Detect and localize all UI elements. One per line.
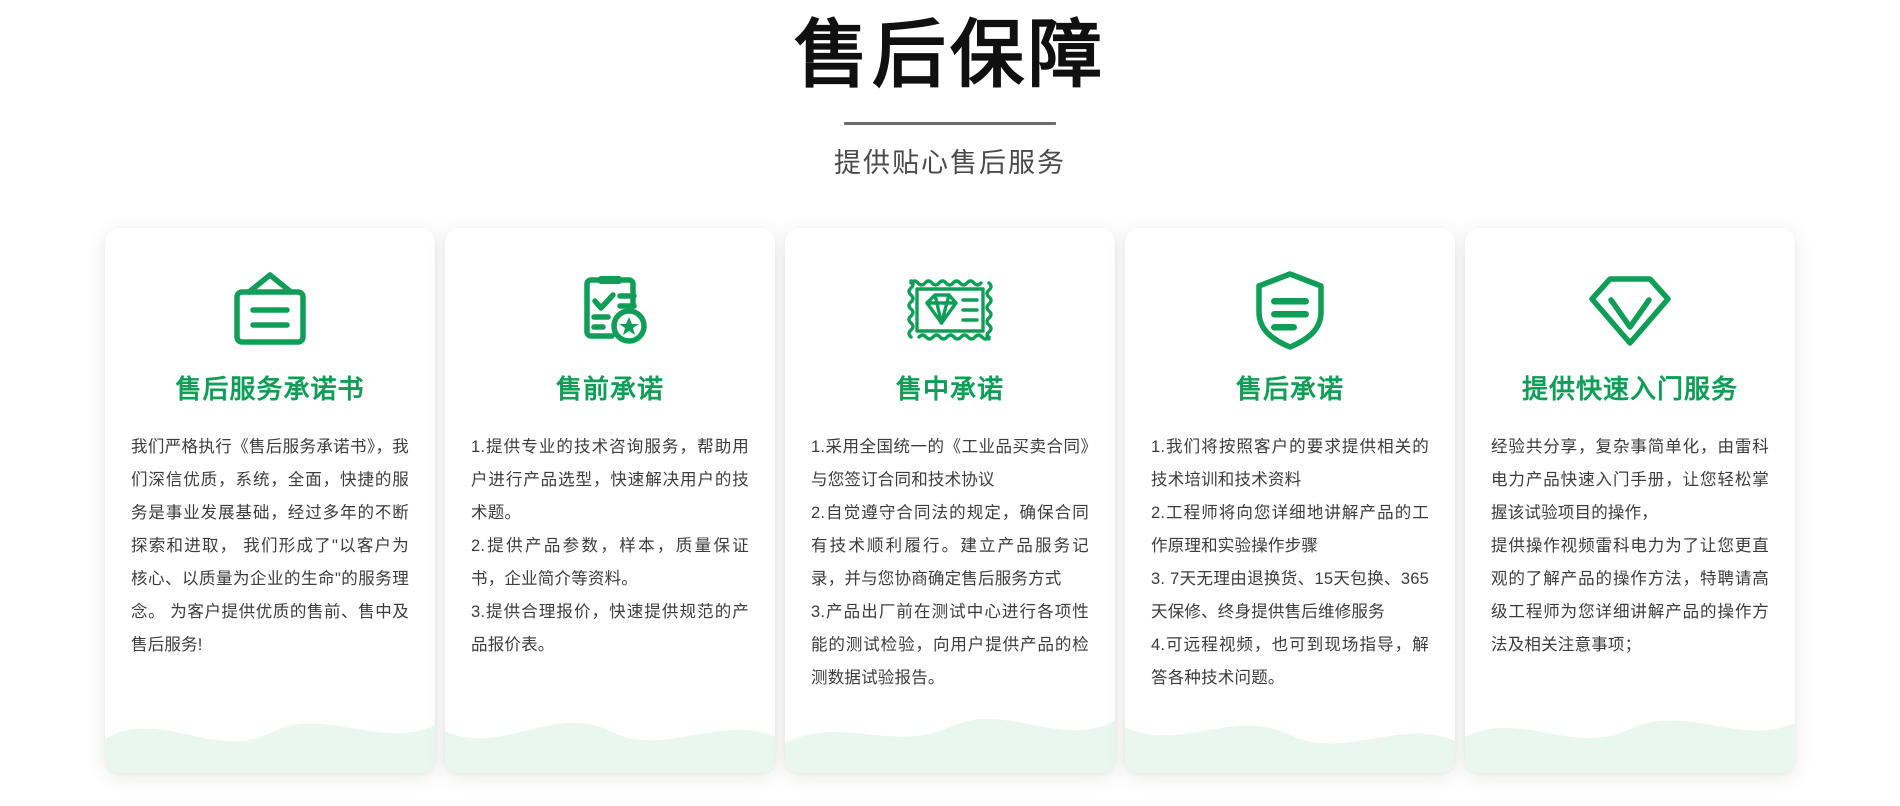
- service-card[interactable]: 售后承诺 1.我们将按照客户的要求提供相关的技术培训和技术资料2.工程师将向您详…: [1125, 228, 1455, 773]
- card-body: 1.采用全国统一的《工业品买卖合同》与您签订合同和技术协议2.自觉遵守合同法的规…: [811, 431, 1089, 695]
- card-body: 1.我们将按照客户的要求提供相关的技术培训和技术资料2.工程师将向您详细地讲解产…: [1151, 431, 1429, 695]
- card-body-line: 1.采用全国统一的《工业品买卖合同》与您签订合同和技术协议: [811, 431, 1089, 497]
- card-body-line: 3. 7天无理由退换货、15天包换、365天保修、终身提供售后维修服务: [1151, 563, 1429, 629]
- page-subtitle: 提供贴心售后服务: [0, 141, 1900, 180]
- title-divider: [844, 122, 1056, 125]
- card-body-line: 经验共分享，复杂事简单化，由雷科电力产品快速入门手册，让您轻松掌握该试验项目的操…: [1491, 431, 1769, 530]
- card-wave-decoration: [445, 687, 775, 773]
- card-wave-decoration: [1465, 687, 1795, 773]
- service-card[interactable]: 售后服务承诺书 我们严格执行《售后服务承诺书》，我们深信优质，系统，全面，快捷的…: [105, 228, 435, 773]
- card-body-line: 3.提供合理报价，快速提供规范的产品报价表。: [471, 596, 749, 662]
- shield-lines-icon: [1151, 264, 1429, 356]
- card-title: 提供快速入门服务: [1491, 374, 1769, 405]
- card-wave-decoration: [105, 687, 435, 773]
- card-body-line: 4.可远程视频，也可到现场指导，解答各种技术问题。: [1151, 629, 1429, 695]
- card-body-line: 1.我们将按照客户的要求提供相关的技术培训和技术资料: [1151, 431, 1429, 497]
- card-body-line: 3.产品出厂前在测试中心进行各项性能的测试检验，向用户提供产品的检测数据试验报告…: [811, 596, 1089, 695]
- card-body-line: 2.提供产品参数，样本，质量保证书，企业简介等资料。: [471, 530, 749, 596]
- service-card[interactable]: 售中承诺 1.采用全国统一的《工业品买卖合同》与您签订合同和技术协议2.自觉遵守…: [785, 228, 1115, 773]
- card-title: 售后服务承诺书: [131, 374, 409, 405]
- card-title: 售前承诺: [471, 374, 749, 405]
- card-body-line: 2.自觉遵守合同法的规定，确保合同有技术顺利履行。建立产品服务记录，并与您协商确…: [811, 497, 1089, 596]
- card-body-line: 1.提供专业的技术咨询服务，帮助用户进行产品选型，快速解决用户的技术题。: [471, 431, 749, 530]
- clipboard-check-star-icon: [471, 264, 749, 356]
- service-card[interactable]: 提供快速入门服务 经验共分享，复杂事简单化，由雷科电力产品快速入门手册，让您轻松…: [1465, 228, 1795, 773]
- after-sales-guarantee-page: 售后保障 提供贴心售后服务 售后服务承诺书 我们严格执行《售后服务承诺书》，我们…: [0, 0, 1900, 806]
- service-cards-row: 售后服务承诺书 我们严格执行《售后服务承诺书》，我们深信优质，系统，全面，快捷的…: [0, 228, 1900, 773]
- card-title: 售中承诺: [811, 374, 1089, 405]
- page-header: 售后保障 提供贴心售后服务: [0, 0, 1900, 180]
- diamond-check-icon: [1491, 264, 1769, 356]
- page-title: 售后保障: [0, 14, 1900, 97]
- card-body: 我们严格执行《售后服务承诺书》，我们深信优质，系统，全面，快捷的服务是事业发展基…: [131, 431, 409, 662]
- card-body-line: 2.工程师将向您详细地讲解产品的工作原理和实验操作步骤: [1151, 497, 1429, 563]
- card-body-line: 提供操作视频雷科电力为了让您更直观的了解产品的操作方法，特聘请高级工程师为您详细…: [1491, 530, 1769, 662]
- card-wave-decoration: [1125, 687, 1455, 773]
- card-wave-decoration: [785, 687, 1115, 773]
- card-body: 经验共分享，复杂事简单化，由雷科电力产品快速入门手册，让您轻松掌握该试验项目的操…: [1491, 431, 1769, 662]
- card-title: 售后承诺: [1151, 374, 1429, 405]
- stamp-diamond-icon: [811, 264, 1089, 356]
- card-body: 1.提供专业的技术咨询服务，帮助用户进行产品选型，快速解决用户的技术题。2.提供…: [471, 431, 749, 662]
- service-card[interactable]: 售前承诺 1.提供专业的技术咨询服务，帮助用户进行产品选型，快速解决用户的技术题…: [445, 228, 775, 773]
- hanging-sign-icon: [131, 264, 409, 356]
